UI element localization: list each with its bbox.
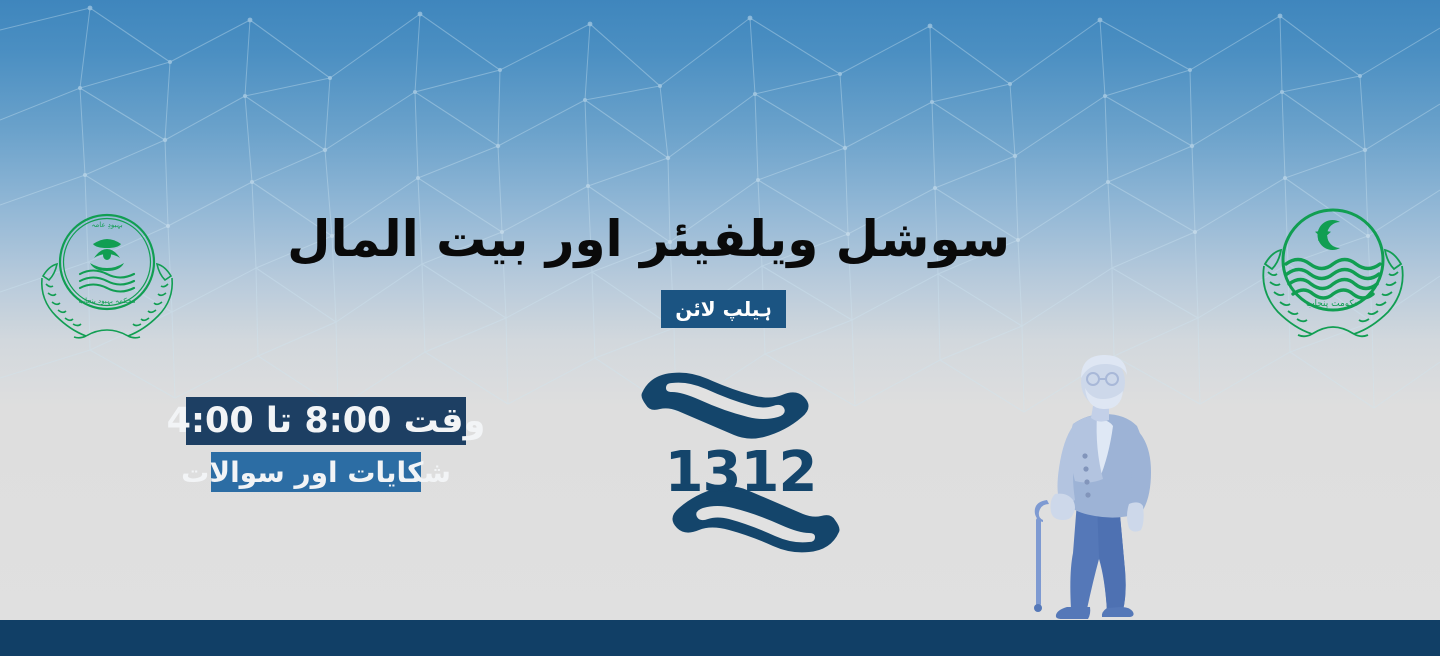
svg-text:محکمہ بہبود پنجاب: محکمہ بہبود پنجاب bbox=[79, 297, 136, 305]
helpline-badge: ہیلپ لائن bbox=[661, 290, 786, 328]
page-title: سوشل ویلفیئر اور بیت المال bbox=[430, 208, 1010, 271]
complaints-queries-bar: شکایات اور سوالات bbox=[211, 452, 421, 492]
service-hours-bar: وقت 8:00 تا 4:00 bbox=[186, 397, 466, 445]
social-welfare-emblem-icon: بہبودِ عامہ محکمہ بہبود پنجاب bbox=[30, 200, 185, 340]
svg-text:حکومت پنجاب: حکومت پنجاب bbox=[1306, 299, 1360, 309]
bottom-accent-bar bbox=[0, 620, 1440, 656]
helpline-banner: بہبودِ عامہ محکمہ بہبود پنجاب bbox=[0, 0, 1440, 656]
government-of-punjab-emblem-icon: حکومت پنجاب bbox=[1248, 192, 1418, 344]
helpline-number: 1312 bbox=[628, 440, 853, 505]
svg-text:بہبودِ عامہ: بہبودِ عامہ bbox=[91, 221, 122, 229]
elderly-man-illustration bbox=[1005, 352, 1180, 620]
